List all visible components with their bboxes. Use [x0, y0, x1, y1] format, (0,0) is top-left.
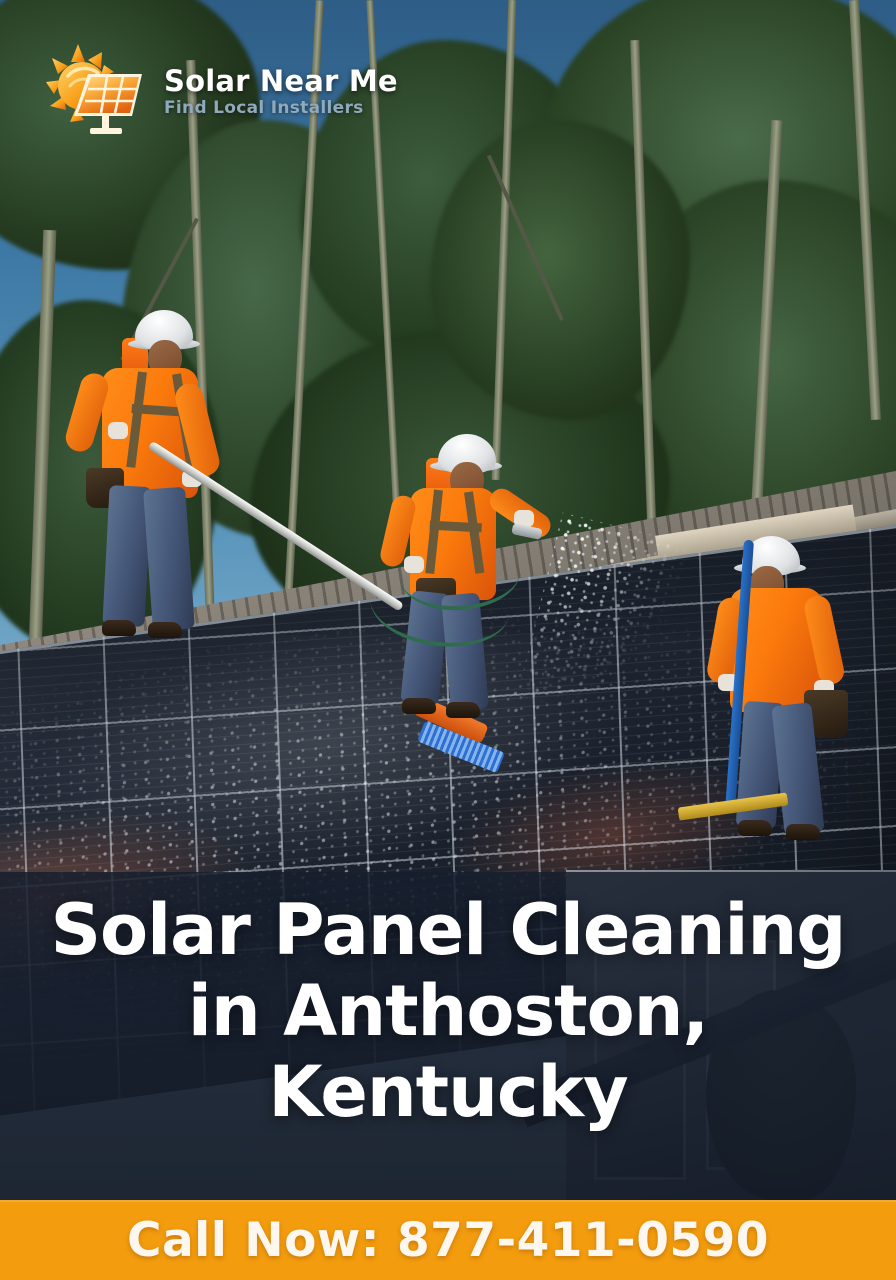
- call-now-label[interactable]: Call Now: 877-411-0590: [127, 1213, 769, 1268]
- work-boot: [102, 620, 136, 636]
- brand-tagline: Find Local Installers: [164, 98, 398, 118]
- logo-text-block: Solar Near Me Find Local Installers: [164, 62, 398, 118]
- worker-leg: [143, 487, 195, 632]
- headline-line-1: Solar Panel Cleaning: [51, 889, 846, 971]
- work-boot: [148, 622, 182, 638]
- work-boot: [786, 824, 820, 840]
- site-logo[interactable]: Solar Near Me Find Local Installers: [44, 42, 398, 138]
- headline-line-2: in Anthoston,: [188, 970, 708, 1052]
- page-title: Solar Panel Cleaning in Anthoston, Kentu…: [0, 890, 896, 1133]
- headline-line-3: Kentucky: [268, 1051, 627, 1133]
- worker-left: [60, 300, 260, 660]
- work-boot: [402, 698, 436, 714]
- brand-name: Solar Near Me: [164, 66, 398, 96]
- poster-canvas: Solar Near Me Find Local Installers Sola…: [0, 0, 896, 1280]
- work-glove: [108, 422, 128, 439]
- sun-solar-panel-icon: [44, 42, 148, 138]
- call-now-bar[interactable]: Call Now: 877-411-0590: [0, 1200, 896, 1280]
- work-boot: [738, 820, 772, 836]
- tree-canopy: [430, 120, 690, 420]
- work-boot: [446, 702, 480, 718]
